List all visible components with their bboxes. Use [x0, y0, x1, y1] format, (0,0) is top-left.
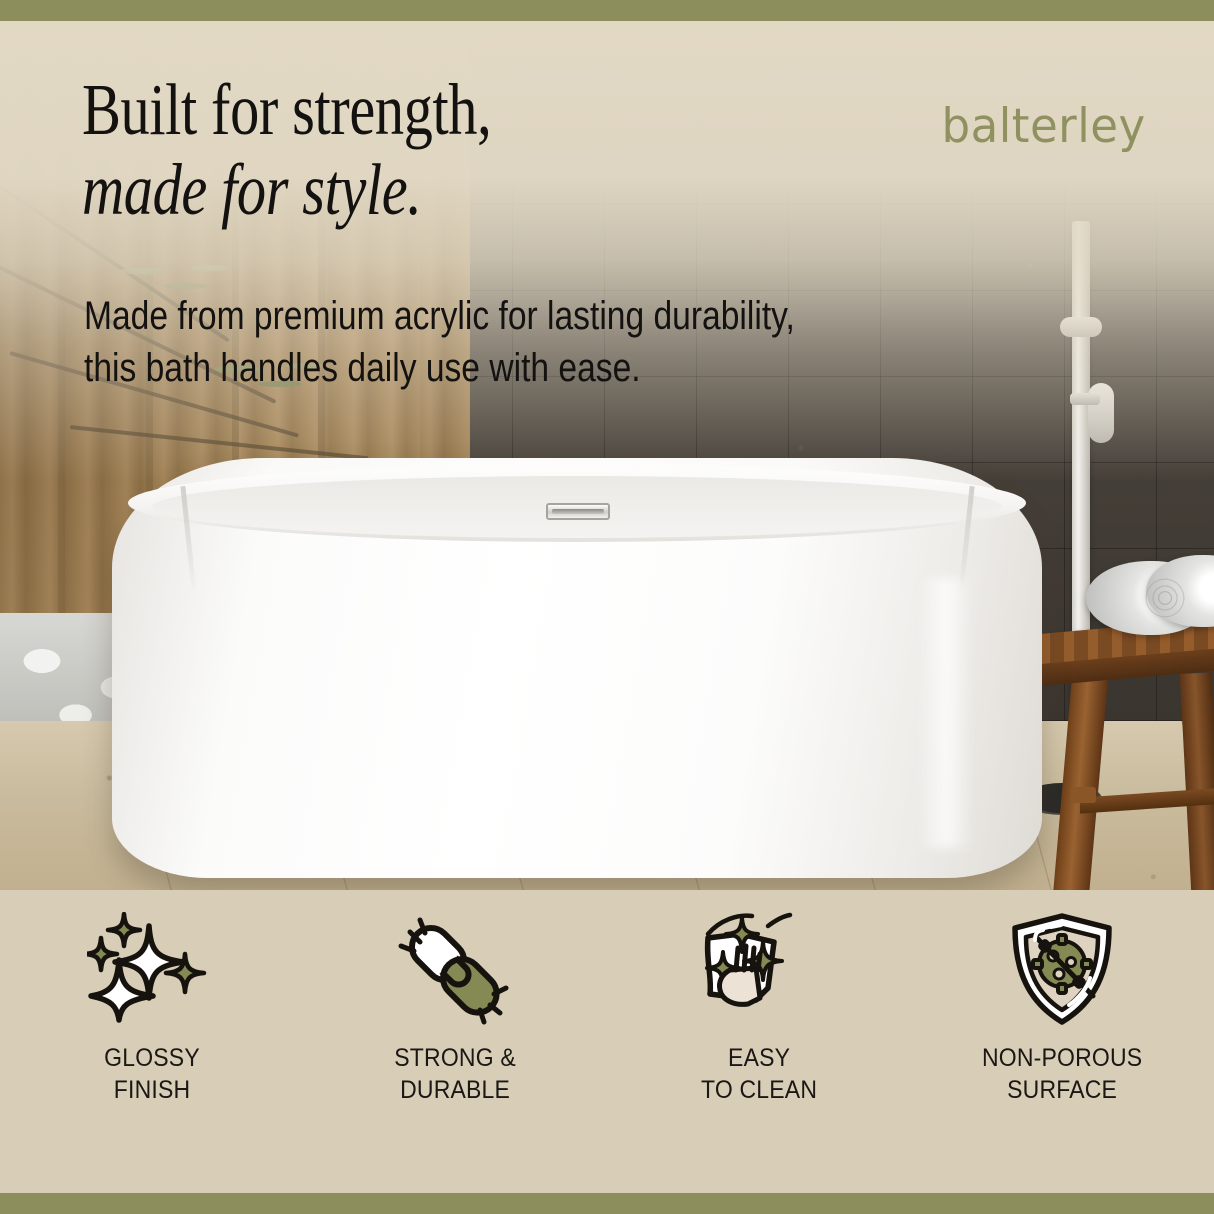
feature-label-line-1: NON-POROUS [982, 1042, 1142, 1074]
page-title: Built for strength, made for style. [82, 73, 491, 228]
feature-item-easy-to-clean: EASY TO CLEAN [607, 890, 911, 1193]
shield-germ-block-icon [997, 912, 1127, 1030]
cloth-wipe-hand-icon [694, 912, 824, 1030]
bench-peg [1070, 787, 1096, 803]
feature-label-line-1: EASY [701, 1042, 817, 1074]
feature-label-strong-durable: STRONG & DURABLE [394, 1042, 516, 1106]
marketing-banner: Built for strength, made for style. Made… [0, 0, 1214, 1214]
feature-strip: GLOSSY FINISH [0, 890, 1214, 1193]
feature-item-non-porous-surface: NON-POROUS SURFACE [911, 890, 1214, 1193]
towel-swirl [1142, 577, 1188, 619]
sparkle-icon [87, 912, 217, 1030]
feature-label-line-2: TO CLEAN [701, 1074, 817, 1106]
overflow-slot [552, 509, 604, 514]
subcopy-line-1: Made from premium acrylic for lasting du… [84, 290, 795, 342]
feature-label-glossy-finish: GLOSSY FINISH [104, 1042, 200, 1106]
headline-block: Built for strength, made for style. Made… [0, 21, 1214, 401]
brand-logo: balterley [942, 99, 1146, 154]
freestanding-bath [112, 458, 1042, 878]
bath-gloss-highlight [918, 578, 974, 848]
top-accent-band [0, 0, 1214, 21]
feature-item-glossy-finish: GLOSSY FINISH [0, 890, 304, 1193]
feature-label-easy-to-clean: EASY TO CLEAN [701, 1042, 817, 1106]
headline-line-1: Built for strength, [82, 69, 491, 150]
headline-line-2: made for style. [82, 153, 491, 227]
bottom-accent-band [0, 1193, 1214, 1214]
feature-item-strong-durable: STRONG & DURABLE [304, 890, 608, 1193]
feature-label-non-porous-surface: NON-POROUS SURFACE [982, 1042, 1142, 1106]
chain-link-icon [390, 912, 520, 1030]
subheading: Made from premium acrylic for lasting du… [84, 290, 795, 394]
subcopy-line-2: this bath handles daily use with ease. [84, 342, 795, 394]
feature-label-line-1: GLOSSY [104, 1042, 200, 1074]
feature-label-line-2: SURFACE [982, 1074, 1142, 1106]
feature-label-line-2: FINISH [104, 1074, 200, 1106]
feature-label-line-1: STRONG & [394, 1042, 516, 1074]
feature-label-line-2: DURABLE [394, 1074, 516, 1106]
